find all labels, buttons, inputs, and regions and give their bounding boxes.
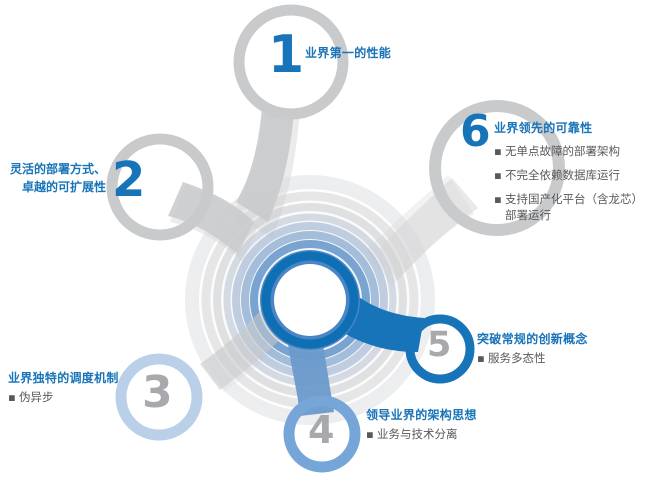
bullet-glyph: ▪	[494, 192, 505, 206]
node-3-heading: 业界独特的调度机制	[8, 369, 119, 386]
node-5-number: 5	[427, 328, 451, 363]
node-2-number: 2	[112, 156, 145, 204]
bullet-glyph: ▪	[477, 351, 488, 365]
node-6-bullet-0: ▪无单点故障的部署架构	[494, 143, 620, 159]
bullet-glyph: ▪	[366, 427, 377, 441]
bullet-glyph: ▪	[494, 144, 505, 158]
node-2-heading-line1: 灵活的部署方式、	[0, 160, 106, 178]
node-6-bullet-1-text: 不完全依赖数据库运行	[505, 168, 620, 182]
node-5-bullet-0-text: 服务多态性	[488, 351, 546, 365]
node-4-number: 4	[308, 411, 334, 449]
node-6-bullet-2: ▪支持国产化平台（含龙芯）	[494, 191, 643, 207]
node-1-number: 1	[268, 29, 304, 81]
node-6-bullet-0-text: 无单点故障的部署架构	[505, 144, 620, 158]
node-3-number: 3	[142, 371, 173, 415]
node-4-heading: 领导业界的架构思想	[366, 406, 477, 423]
center-hub	[260, 250, 360, 350]
bullet-glyph: ▪	[494, 168, 505, 182]
node-6-bullet-1: ▪不完全依赖数据库运行	[494, 167, 620, 183]
node-4-bullet-0: ▪业务与技术分离	[366, 426, 458, 442]
node-4-bullet-0-text: 业务与技术分离	[377, 427, 458, 441]
node-6-heading: 业界领先的可靠性	[494, 119, 592, 136]
node-6-bullet-2-text: 支持国产化平台（含龙芯）	[505, 192, 643, 206]
node-1-heading: 业界第一的性能	[305, 44, 391, 61]
node-6-bullet-2-continuation: 部署运行	[505, 207, 551, 223]
node-3-bullet-0-text: 伪异步	[19, 390, 54, 404]
node-6-number: 6	[460, 110, 491, 154]
infographic-canvas	[0, 0, 667, 477]
node-5-heading: 突破常规的创新概念	[477, 330, 588, 347]
node-3-bullet-0: ▪伪异步	[8, 389, 54, 405]
node-2-heading-line2: 卓越的可扩展性	[0, 178, 106, 196]
bullet-glyph: ▪	[8, 390, 19, 404]
node-5-bullet-0: ▪服务多态性	[477, 350, 546, 366]
